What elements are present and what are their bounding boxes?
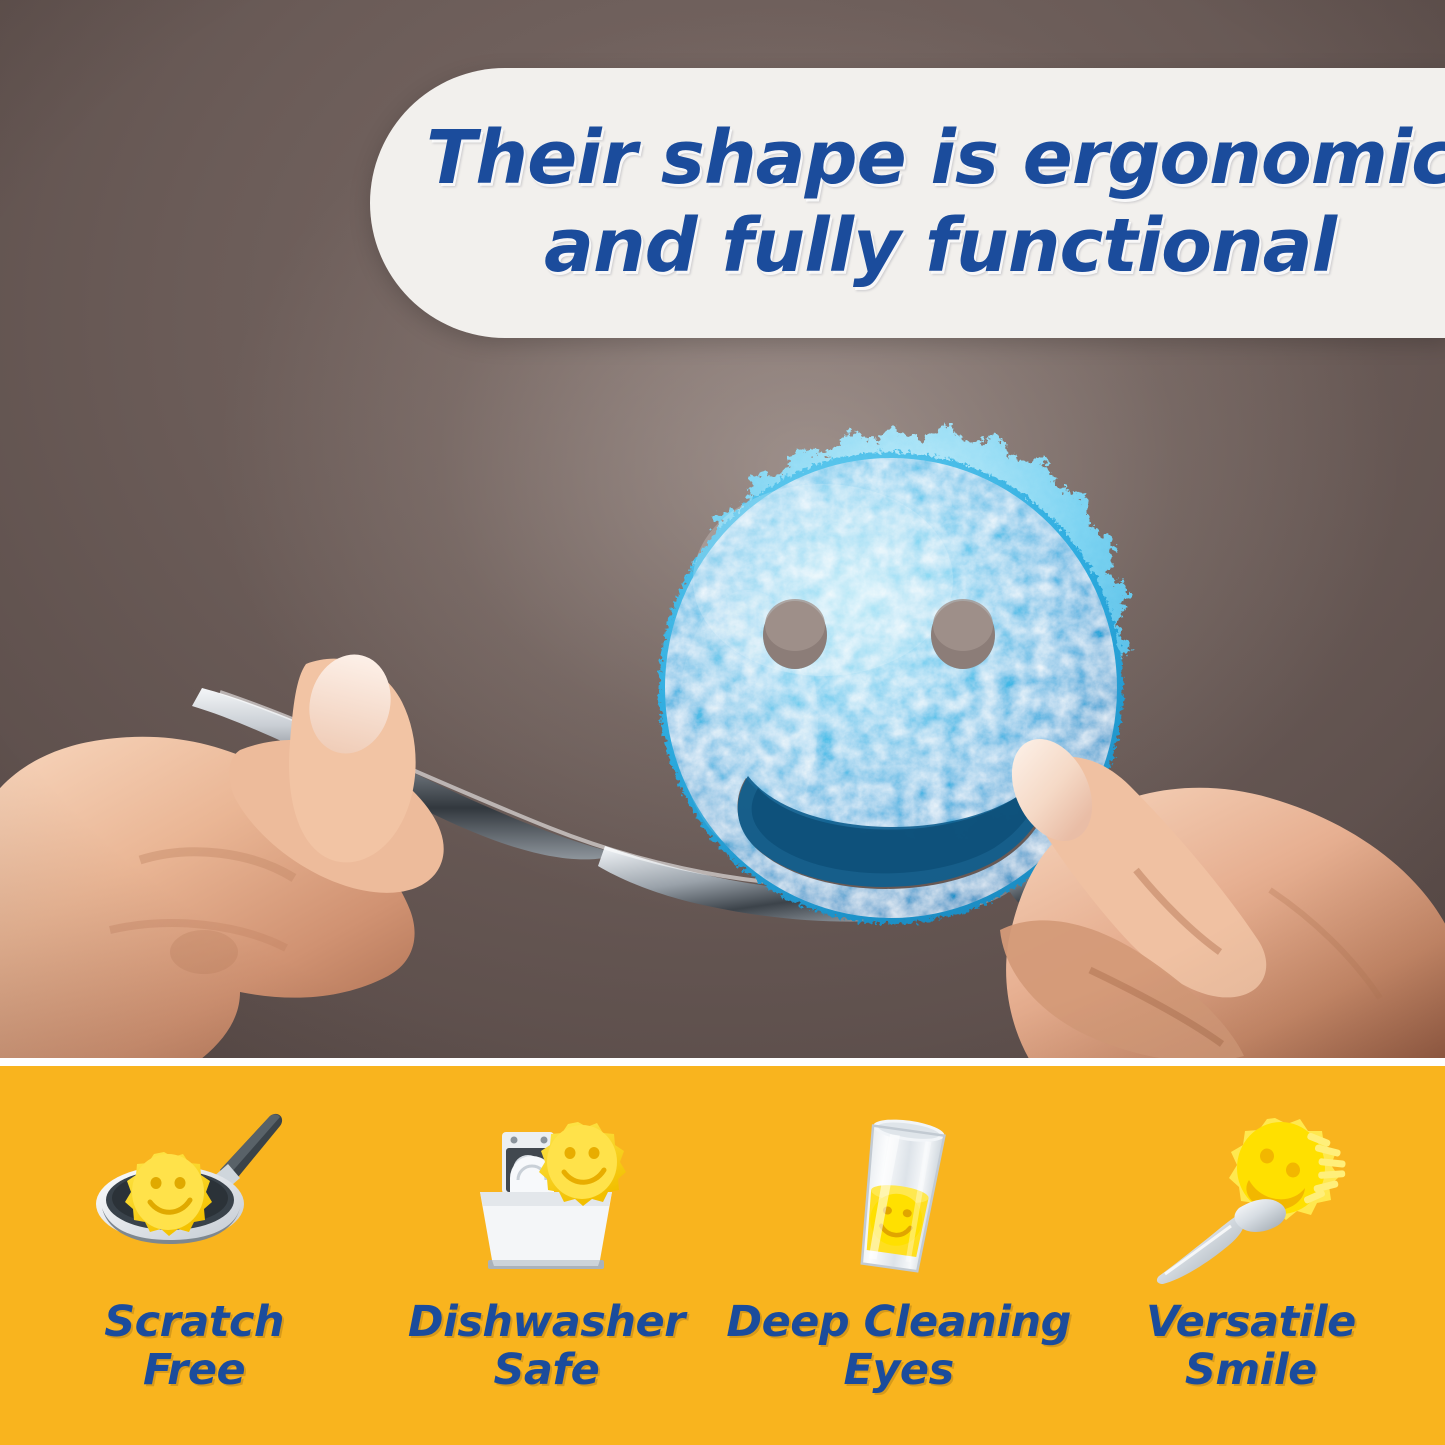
feature-label-line-1: Dishwasher <box>408 1297 685 1347</box>
feature-label-line-2: Eyes <box>844 1345 954 1395</box>
headline-banner: Their shape is ergonomic and fully funct… <box>370 68 1445 338</box>
feature-deep-cleaning-eyes: Deep Cleaning Eyes <box>723 1108 1075 1445</box>
feature-label: Versatile Smile <box>1146 1298 1356 1394</box>
left-hand <box>0 600 590 1058</box>
drinking-glass-with-sponge-icon <box>799 1108 999 1288</box>
feature-label-line-2: Free <box>143 1345 245 1395</box>
product-feature-card: Their shape is ergonomic and fully funct… <box>0 0 1445 1445</box>
sponge-with-spoon-icon <box>1151 1108 1351 1288</box>
feature-label-line-2: Safe <box>493 1345 599 1395</box>
divider <box>0 1058 1445 1066</box>
frying-pan-with-sponge-icon <box>94 1108 294 1288</box>
feature-label-line-1: Versatile <box>1146 1297 1356 1347</box>
headline-line-2: and fully functional <box>544 208 1336 286</box>
feature-scratch-free: Scratch Free <box>18 1108 370 1445</box>
feature-label-line-1: Deep Cleaning <box>726 1297 1071 1347</box>
feature-versatile-smile: Versatile Smile <box>1075 1108 1427 1445</box>
feature-label-line-1: Scratch <box>104 1297 284 1347</box>
feature-label: Scratch Free <box>104 1298 284 1394</box>
feature-dishwasher-safe: Dishwasher Safe <box>370 1108 722 1445</box>
dishwasher-basket-with-sponge-icon <box>446 1108 646 1288</box>
right-hand <box>940 640 1445 1058</box>
feature-label: Dishwasher Safe <box>408 1298 685 1394</box>
headline-line-1: Their shape is ergonomic <box>426 120 1445 198</box>
feature-label-line-2: Smile <box>1185 1345 1317 1395</box>
feature-label: Deep Cleaning Eyes <box>726 1298 1071 1394</box>
feature-bar: Scratch Free <box>0 1066 1445 1445</box>
